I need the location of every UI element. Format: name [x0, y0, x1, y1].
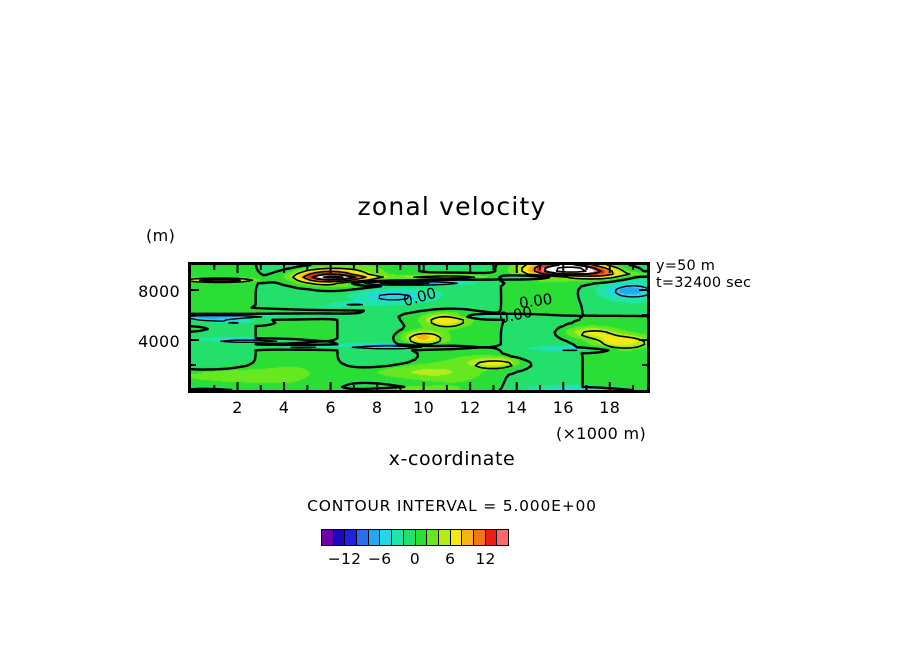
y-tick-label: 4000 — [138, 332, 180, 351]
colorbar-swatch — [392, 530, 404, 545]
x-tick-label: 2 — [232, 398, 242, 417]
colorbar-swatch — [369, 530, 381, 545]
colorbar-swatch — [322, 530, 334, 545]
colorbar-swatch — [497, 530, 508, 545]
colorbar-swatch — [486, 530, 498, 545]
x-tick-label: 12 — [460, 398, 481, 417]
axis-tick-marks — [188, 262, 650, 393]
colorbar-container[interactable] — [321, 529, 509, 546]
colorbar-swatch — [474, 530, 486, 545]
colorbar-tick-label: −12 — [328, 550, 362, 568]
figure-canvas: zonal velocity (m) 80004000 y=50 m t=324… — [0, 0, 904, 654]
x-tick-label: 4 — [279, 398, 289, 417]
y-axis-tick-labels: 80004000 — [120, 262, 180, 393]
y-tick-label: 8000 — [138, 282, 180, 301]
x-tick-label: 6 — [325, 398, 335, 417]
x-axis-tick-labels: 24681012141618 — [188, 398, 650, 420]
colorbar-swatch — [380, 530, 392, 545]
colorbar-tick-label: −6 — [368, 550, 391, 568]
colorbar-swatch — [345, 530, 357, 545]
x-axis-title: x-coordinate — [0, 448, 904, 470]
x-tick-label: 8 — [372, 398, 382, 417]
colorbar-swatch — [451, 530, 463, 545]
colorbar[interactable] — [321, 529, 509, 546]
colorbar-tick-labels: −12−60612 — [321, 550, 509, 570]
colorbar-swatch — [427, 530, 439, 545]
colorbar-tick-label: 12 — [475, 550, 495, 568]
colorbar-swatch — [334, 530, 346, 545]
colorbar-swatch — [462, 530, 474, 545]
x-tick-label: 16 — [553, 398, 574, 417]
contour-interval-caption: CONTOUR INTERVAL = 5.000E+00 — [0, 497, 904, 515]
colorbar-swatch — [439, 530, 451, 545]
page-title: zonal velocity — [0, 192, 904, 221]
plot-annotation: y=50 m t=32400 sec — [656, 258, 751, 292]
colorbar-swatch — [404, 530, 416, 545]
annotation-line-t: t=32400 sec — [656, 275, 751, 292]
x-axis-unit-label: (×1000 m) — [556, 424, 646, 443]
annotation-line-y: y=50 m — [656, 258, 751, 275]
colorbar-swatch — [416, 530, 428, 545]
x-tick-label: 14 — [506, 398, 527, 417]
colorbar-swatch — [357, 530, 369, 545]
x-tick-label: 10 — [413, 398, 434, 417]
colorbar-tick-label: 6 — [445, 550, 455, 568]
x-tick-label: 18 — [599, 398, 620, 417]
y-axis-unit-label: (m) — [146, 226, 175, 245]
colorbar-tick-label: 0 — [410, 550, 420, 568]
